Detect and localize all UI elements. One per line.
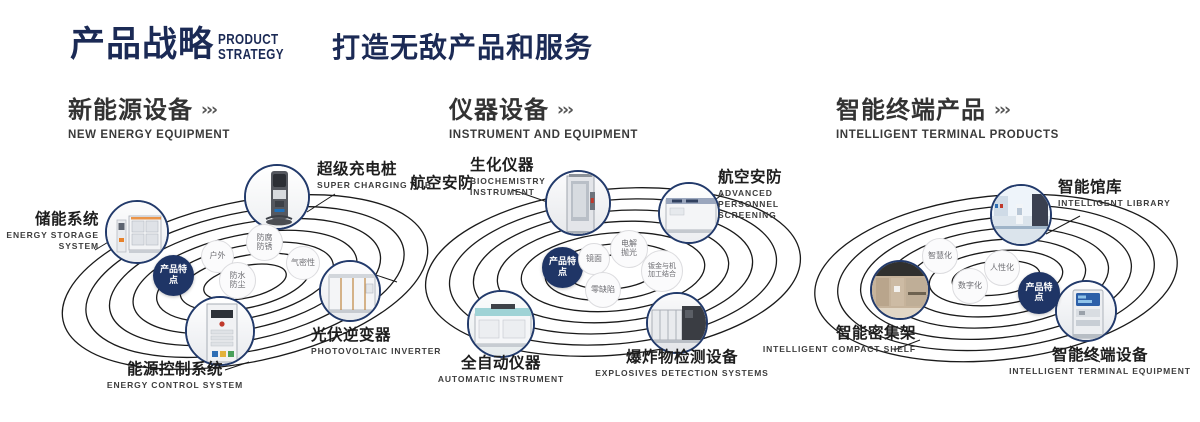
section-heading-en: NEW ENERGY EQUIPMENT	[68, 129, 230, 141]
explosives-detection-photo	[648, 294, 706, 352]
product-label-intelligent-terminal-equipment: 智能终端设备 INTELLIGENT TERMINAL EQUIPMENT	[1002, 346, 1198, 377]
feature-bubble-label: 防腐防锈	[254, 234, 276, 252]
product-node-photovoltaic-inverter[interactable]	[319, 260, 381, 322]
feature-bubble-humanized: 人性化	[984, 250, 1020, 286]
product-label-cn: 储能系统	[0, 210, 99, 228]
product-label-en: AUTOMATIC INSTRUMENT	[415, 374, 587, 385]
product-label-cn: 智能馆库	[1058, 178, 1171, 196]
feature-bubble-core: 产品特点	[542, 247, 583, 288]
product-label-aviation-security-aside: 航空安防	[410, 174, 474, 192]
product-node-intelligent-compact-shelf[interactable]	[870, 260, 930, 320]
product-label-en: ENERGY STORAGE SYSTEM	[0, 230, 99, 252]
product-node-automatic-instrument[interactable]	[467, 290, 535, 358]
intelligent-compact-shelf-photo	[872, 262, 928, 318]
feature-bubble-label: 镜面	[586, 255, 602, 264]
section-heading-new-energy: 新能源设备››› NEW ENERGY EQUIPMENT	[68, 96, 230, 141]
product-label-automatic-instrument: 全自动仪器 AUTOMATIC INSTRUMENT	[415, 354, 587, 385]
feature-bubble-sheetmetal-machining: 钣金与机加工结合	[641, 250, 683, 292]
orbit-diagram-intelligent-terminal: 智能馆库 INTELLIGENT LIBRARY 智能密集架 INTELLIGE…	[800, 150, 1200, 410]
section-heading-en: INTELLIGENT TERMINAL PRODUCTS	[836, 129, 1059, 141]
product-node-advanced-personnel-screening[interactable]	[658, 182, 720, 244]
product-node-intelligent-library[interactable]	[990, 184, 1052, 246]
feature-bubble-label: 户外	[210, 252, 226, 261]
feature-bubble-label: 人性化	[990, 264, 1014, 273]
section-heading-intelligent-terminal: 智能终端产品››› INTELLIGENT TERMINAL PRODUCTS	[836, 96, 1059, 141]
chevron-right-icon: ›››	[557, 96, 572, 124]
automatic-instrument-photo	[469, 292, 533, 356]
orbit-diagram-instrument: 航空安防 生化仪器 BIOCHEMISTRY INSTRUMENT	[405, 150, 825, 410]
product-label-en: INTELLIGENT COMPACT SHELF	[738, 344, 916, 355]
feature-bubble-waterproof: 防水防尘	[219, 262, 256, 299]
feature-bubble-label: 智慧化	[928, 252, 952, 261]
feature-bubble-label: 电解抛光	[618, 240, 640, 258]
chevron-right-icon: ›››	[201, 96, 216, 124]
feature-bubble-label: 产品特点	[546, 257, 580, 277]
page-header: 产品战略 PRODUCT STRATEGY 打造无敌产品和服务	[0, 0, 1200, 92]
feature-bubble-digital: 数字化	[952, 268, 988, 304]
page-title-english-line2: STRATEGY	[218, 47, 284, 62]
section-heading-cn: 新能源设备›››	[68, 96, 230, 124]
feature-bubble-label: 气密性	[291, 259, 315, 268]
intelligent-terminal-equipment-photo	[1057, 282, 1115, 340]
page-title-english-line1: PRODUCT	[218, 32, 284, 47]
section-heading-cn: 智能终端产品›››	[836, 96, 1059, 124]
advanced-personnel-screening-photo	[660, 184, 718, 242]
product-label-en: INTELLIGENT TERMINAL EQUIPMENT	[1002, 366, 1198, 377]
product-label-biochemistry-instrument: 生化仪器 BIOCHEMISTRY INSTRUMENT	[470, 156, 534, 198]
energy-control-system-photo	[187, 298, 253, 364]
feature-bubble-label: 产品特点	[157, 265, 191, 285]
product-label-intelligent-compact-shelf: 智能密集架 INTELLIGENT COMPACT SHELF	[738, 324, 916, 355]
product-node-intelligent-terminal-equipment[interactable]	[1055, 280, 1117, 342]
feature-bubble-anticorrosion: 防腐防锈	[246, 224, 283, 261]
product-label-energy-control-system: 能源控制系统 ENERGY CONTROL SYSTEM	[85, 360, 265, 391]
product-node-energy-control-system[interactable]	[185, 296, 255, 366]
product-label-cn: 能源控制系统	[85, 360, 265, 378]
feature-bubble-zero-defect: 零缺陷	[585, 272, 621, 308]
feature-bubble-core: 产品特点	[153, 255, 194, 296]
page-title-english: PRODUCT STRATEGY	[218, 32, 284, 62]
feature-bubble-label: 产品特点	[1022, 283, 1056, 303]
product-node-biochemistry-instrument[interactable]	[545, 170, 611, 236]
feature-bubble-label: 零缺陷	[591, 286, 615, 295]
product-label-en: BIOCHEMISTRY INSTRUMENT	[470, 176, 528, 198]
chevron-right-icon: ›››	[994, 96, 1009, 124]
biochemistry-instrument-photo	[547, 172, 609, 234]
product-node-energy-storage[interactable]	[105, 200, 169, 264]
page-slogan: 打造无敌产品和服务	[332, 34, 593, 62]
feature-bubble-core: 产品特点	[1018, 272, 1060, 314]
photovoltaic-inverter-photo	[321, 262, 379, 320]
orbit-diagram-new-energy: 储能系统 ENERGY STORAGE SYSTEM 超级充电桩 SUPER C…	[35, 150, 455, 410]
product-label-cn: 全自动仪器	[415, 354, 587, 372]
feature-bubble-airtightness: 气密性	[286, 246, 320, 280]
page-title: 产品战略	[70, 28, 214, 63]
section-heading-en: INSTRUMENT AND EQUIPMENT	[449, 129, 638, 141]
product-label-intelligent-library: 智能馆库 INTELLIGENT LIBRARY	[1058, 178, 1171, 209]
product-label-en: INTELLIGENT LIBRARY	[1058, 198, 1171, 209]
product-node-explosives-detection[interactable]	[646, 292, 708, 354]
feature-bubble-mirror: 镜面	[578, 243, 610, 275]
product-label-cn: 智能密集架	[738, 324, 916, 342]
super-charging-hub-photo	[246, 166, 308, 228]
product-label-energy-storage: 储能系统 ENERGY STORAGE SYSTEM	[0, 210, 99, 252]
feature-bubble-intelligent: 智慧化	[922, 238, 958, 274]
feature-bubble-label: 防水防尘	[227, 272, 249, 290]
product-label-cn: 生化仪器	[470, 156, 534, 174]
feature-bubble-label: 钣金与机加工结合	[647, 263, 677, 279]
product-label-en: EXPLOSIVES DETECTION SYSTEMS	[587, 368, 777, 379]
product-label-en: ENERGY CONTROL SYSTEM	[85, 380, 265, 391]
section-heading-cn: 仪器设备›››	[449, 96, 638, 124]
energy-storage-photo	[107, 202, 167, 262]
section-heading-instrument: 仪器设备››› INSTRUMENT AND EQUIPMENT	[449, 96, 638, 141]
product-node-super-charging-hub[interactable]	[244, 164, 310, 230]
intelligent-library-photo	[992, 186, 1050, 244]
product-label-cn: 智能终端设备	[1002, 346, 1198, 364]
product-label-cn: 航空安防	[410, 174, 474, 192]
feature-bubble-label: 数字化	[958, 282, 982, 291]
